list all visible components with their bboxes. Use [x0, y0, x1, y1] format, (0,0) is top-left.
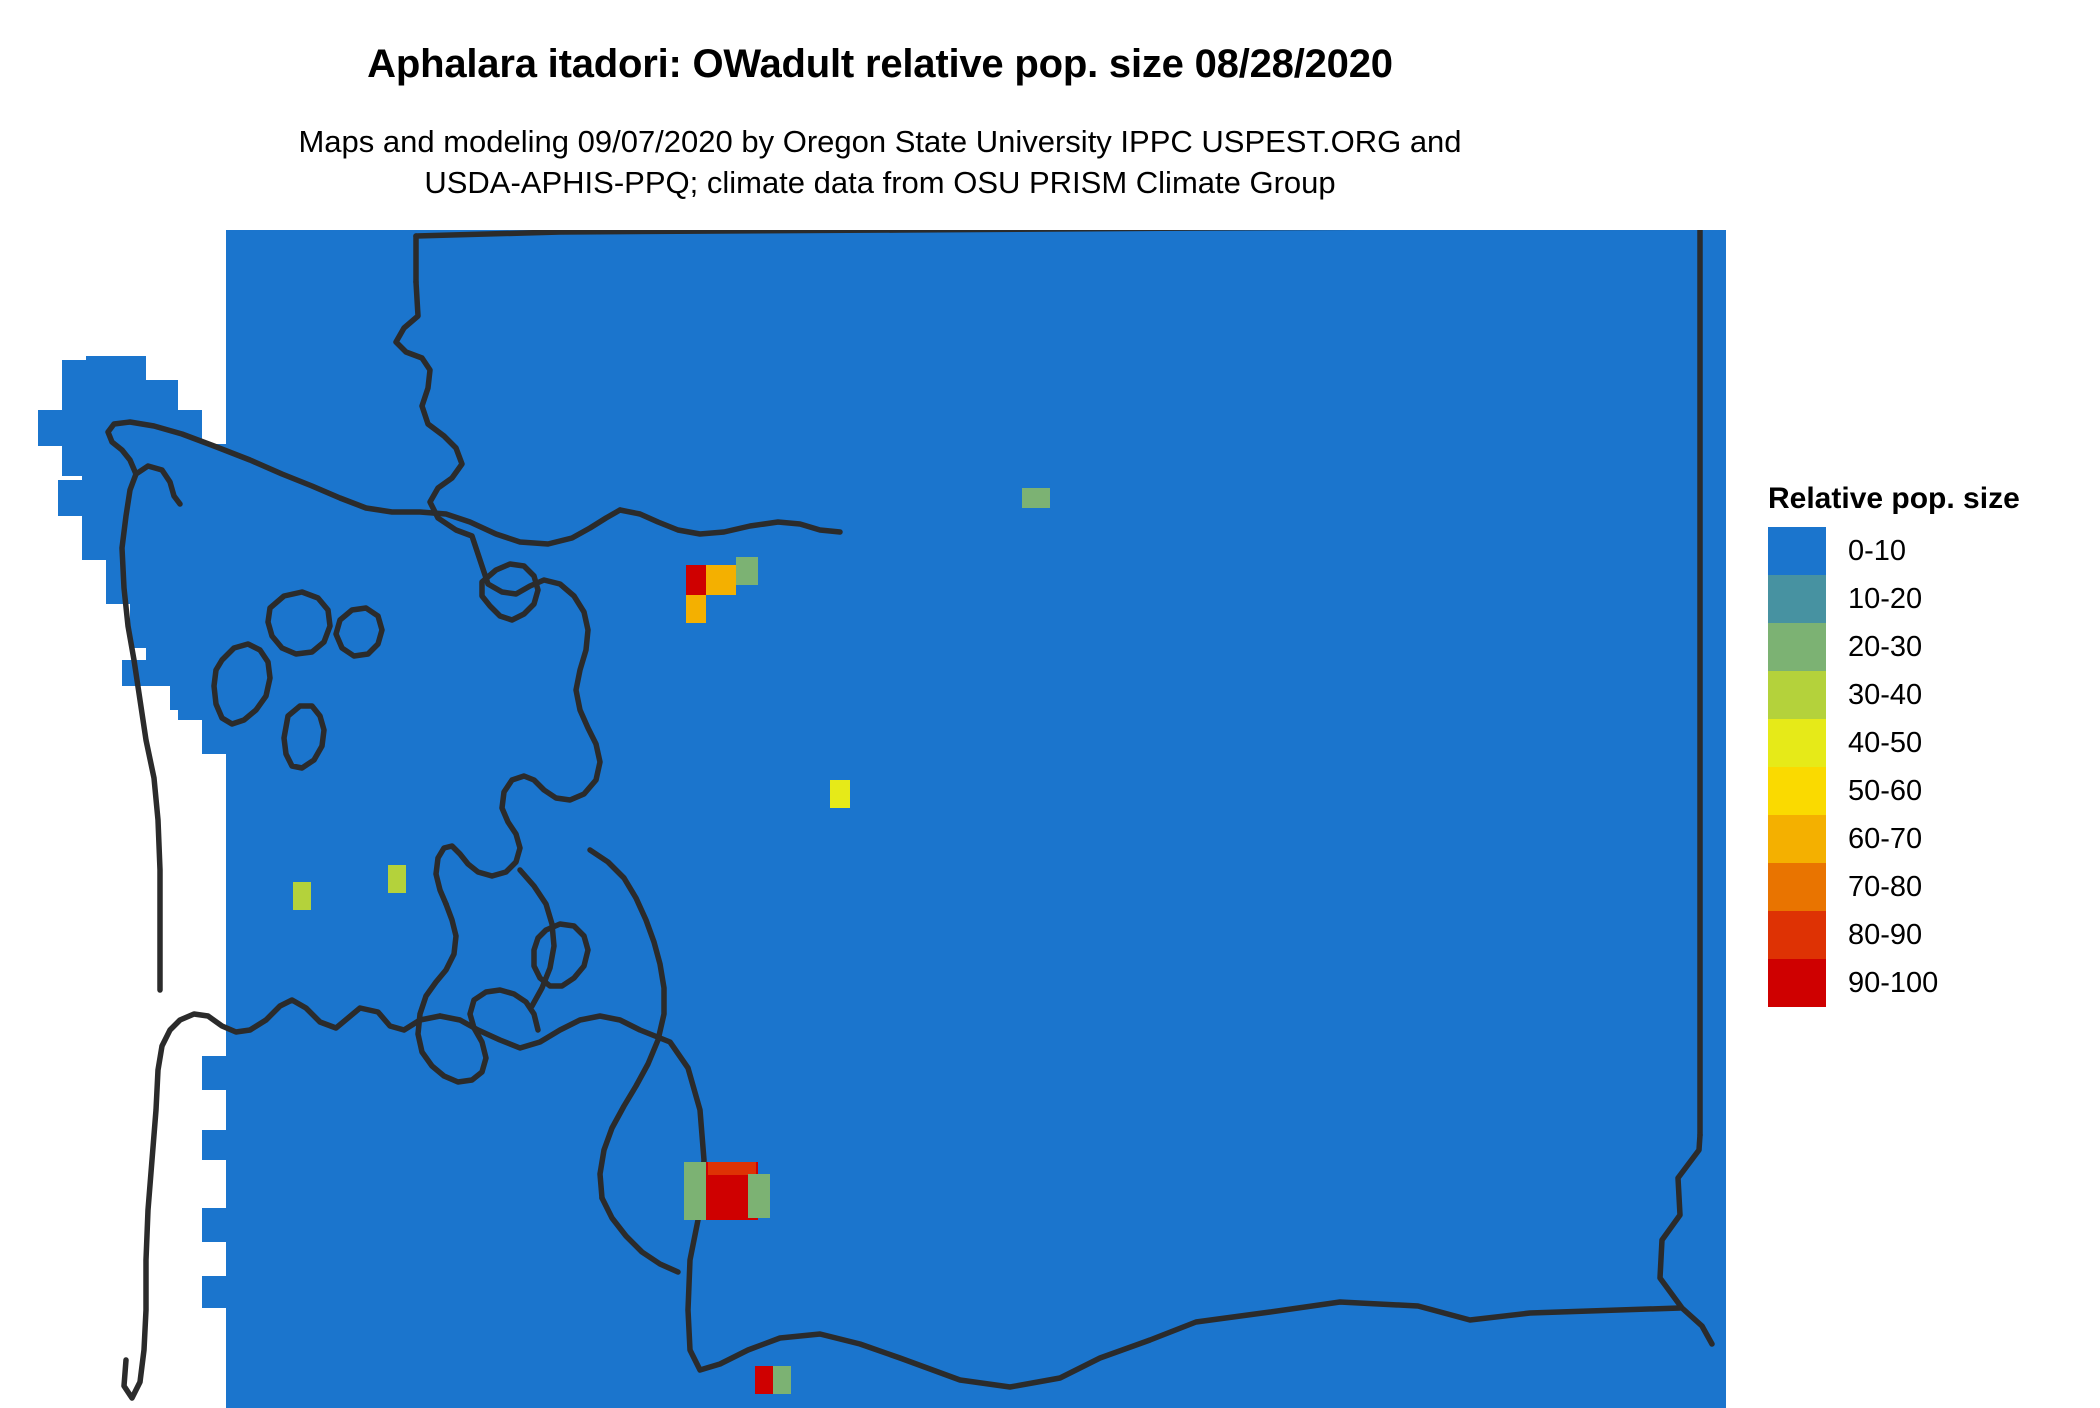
legend-label: 50-60 — [1848, 777, 1922, 806]
population-cell — [293, 882, 311, 910]
legend-row[interactable]: 20-30 — [1768, 623, 2088, 671]
legend-label: 10-20 — [1848, 585, 1922, 614]
legend-row[interactable]: 40-50 — [1768, 719, 2088, 767]
legend-label: 90-100 — [1848, 969, 1938, 998]
map-page: Aphalara itadori: OWadult relative pop. … — [0, 0, 2100, 1408]
legend-color-swatch — [1768, 911, 1826, 959]
population-cell — [708, 1162, 756, 1175]
legend-label: 30-40 — [1848, 681, 1922, 710]
title-block: Aphalara itadori: OWadult relative pop. … — [0, 44, 1760, 84]
legend-row[interactable]: 60-70 — [1768, 815, 2088, 863]
legend-row[interactable]: 10-20 — [1768, 575, 2088, 623]
legend-color-swatch — [1768, 767, 1826, 815]
population-cell — [1022, 488, 1050, 508]
legend-color-swatch — [1768, 575, 1826, 623]
legend-label: 70-80 — [1848, 873, 1922, 902]
subtitle-line-1: Maps and modeling 09/07/2020 by Oregon S… — [0, 122, 1760, 163]
legend-color-swatch — [1768, 623, 1826, 671]
population-cell — [388, 865, 406, 893]
population-cell — [736, 557, 758, 585]
population-cell — [748, 1174, 770, 1218]
population-cell — [773, 1366, 791, 1394]
legend-color-swatch — [1768, 815, 1826, 863]
legend-row[interactable]: 50-60 — [1768, 767, 2088, 815]
map-canvas[interactable] — [0, 230, 1760, 1408]
legend-label: 0-10 — [1848, 537, 1906, 566]
legend-rows: 0-1010-2020-3030-4040-5050-6060-7070-808… — [1768, 527, 2088, 1007]
legend-color-swatch — [1768, 527, 1826, 575]
legend-label: 40-50 — [1848, 729, 1922, 758]
subtitle-line-2: USDA-APHIS-PPQ; climate data from OSU PR… — [0, 163, 1760, 204]
legend: Relative pop. size 0-1010-2020-3030-4040… — [1768, 484, 2088, 1007]
legend-label: 20-30 — [1848, 633, 1922, 662]
legend-row[interactable]: 80-90 — [1768, 911, 2088, 959]
legend-color-swatch — [1768, 959, 1826, 1007]
page-title: Aphalara itadori: OWadult relative pop. … — [0, 44, 1760, 84]
legend-title: Relative pop. size — [1768, 484, 2088, 514]
legend-label: 60-70 — [1848, 825, 1922, 854]
population-cell — [686, 565, 706, 595]
washington-state-map[interactable] — [0, 230, 1760, 1408]
legend-color-swatch — [1768, 671, 1826, 719]
legend-label: 80-90 — [1848, 921, 1922, 950]
population-cell — [755, 1366, 773, 1394]
population-cell — [830, 780, 850, 808]
legend-row[interactable]: 90-100 — [1768, 959, 2088, 1007]
legend-row[interactable]: 30-40 — [1768, 671, 2088, 719]
legend-row[interactable]: 0-10 — [1768, 527, 2088, 575]
population-cell — [686, 595, 706, 623]
legend-color-swatch — [1768, 719, 1826, 767]
raster-extent-shape — [58, 230, 1726, 1408]
subtitle-block: Maps and modeling 09/07/2020 by Oregon S… — [0, 122, 1760, 204]
legend-row[interactable]: 70-80 — [1768, 863, 2088, 911]
population-cell — [706, 565, 736, 595]
population-cell — [684, 1162, 706, 1220]
legend-color-swatch — [1768, 863, 1826, 911]
